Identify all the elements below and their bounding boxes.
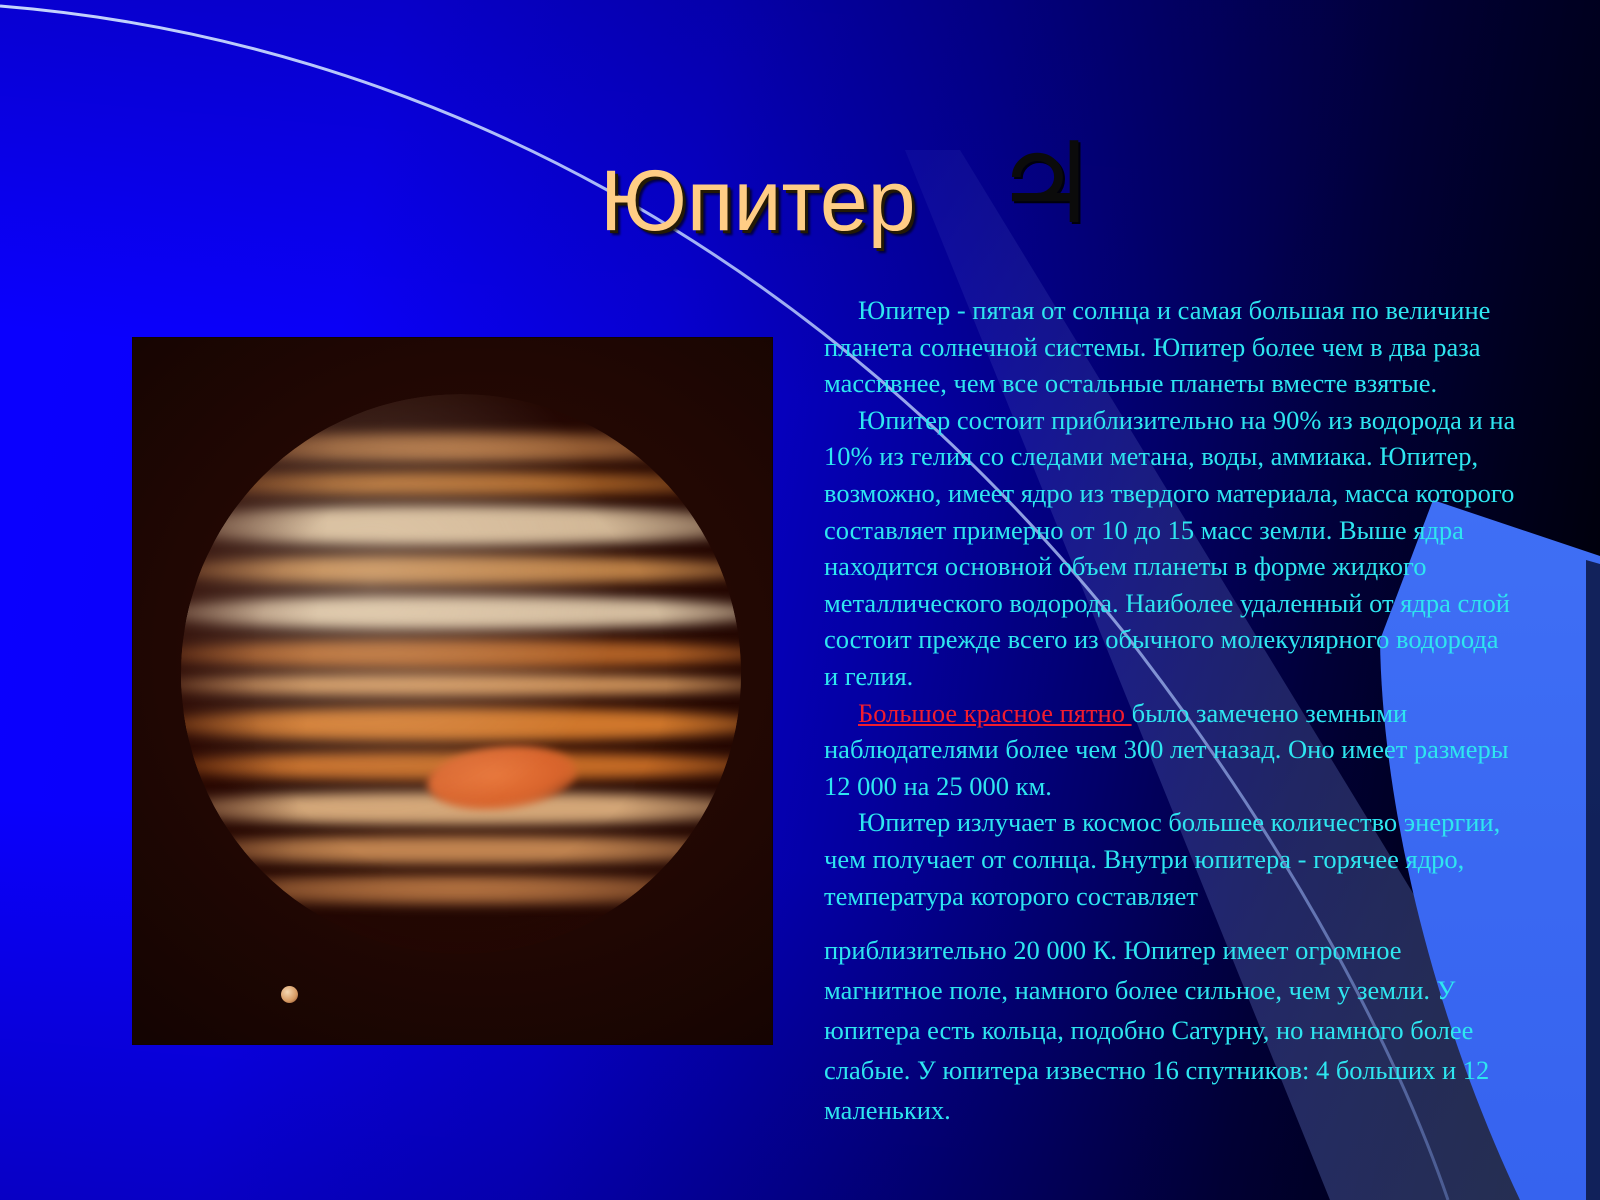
- great-red-spot-link[interactable]: Большое красное пятно: [858, 698, 1132, 728]
- paragraph-5: приблизительно 20 000 К. Юпитер имеет ог…: [824, 930, 1518, 1130]
- paragraph-3: Большое красное пятно было замечено земн…: [824, 695, 1518, 805]
- paragraph-2: Юпитер состоит приблизительно на 90% из …: [824, 402, 1518, 695]
- jupiter-photo: [133, 338, 772, 1044]
- jupiter-shading: [181, 394, 741, 954]
- paragraph-4: Юпитер излучает в космос большее количес…: [824, 804, 1518, 914]
- jupiter-planet-disc: [181, 394, 741, 954]
- body-text-block: Юпитер - пятая от солнца и самая большая…: [824, 292, 1518, 1130]
- presentation-slide: Юпитер ♃ Юпитер - пятая от: [0, 0, 1600, 1200]
- page-title: Юпитер: [600, 158, 916, 244]
- paragraph-1: Юпитер - пятая от солнца и самая большая…: [824, 292, 1518, 402]
- jupiter-moon: [281, 986, 298, 1003]
- jupiter-symbol-icon: ♃: [992, 128, 1097, 240]
